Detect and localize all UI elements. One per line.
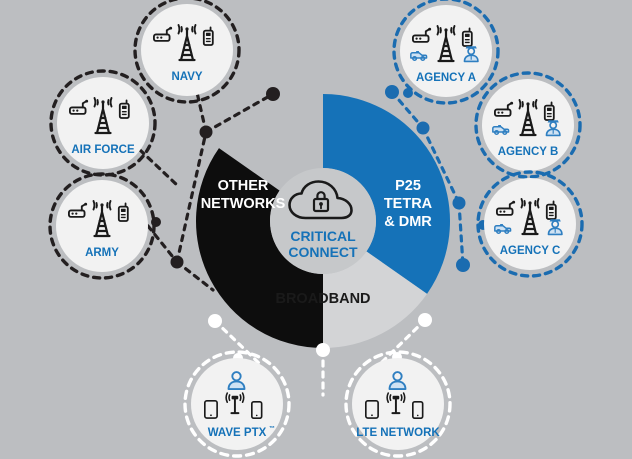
segment-label-p25-tetra-dmr: TETRA [384, 196, 433, 212]
connector-dot-dot-blue-2 [417, 122, 430, 135]
node-label-agency-b: AGENCY B [498, 146, 559, 158]
connector-dot-dot-blue-1 [385, 85, 399, 99]
node-label-lte-network: LTE NETWORK [356, 427, 440, 439]
node-label-navy: NAVY [171, 71, 202, 83]
segment-label-p25-tetra-dmr: P25 [395, 178, 421, 194]
node-label-wave-ptx: WAVE PTX [208, 427, 267, 439]
connector-dot-dot-dark-3 [171, 256, 184, 269]
diagram-canvas: CRITICALCONNECTOTHERNETWORKSP25TETRA& DM… [0, 0, 632, 459]
node-label-air-force: AIR FORCE [71, 144, 135, 156]
connector-dot-dot-blue-3 [453, 197, 466, 210]
node-label-agency-c: AGENCY C [500, 245, 561, 257]
segment-label-other-networks: NETWORKS [201, 196, 286, 212]
connector-dot-dot-white-2 [316, 343, 330, 357]
segment-label-p25-tetra-dmr: & DMR [384, 214, 432, 230]
connector-dot-dot-blue-4 [456, 258, 470, 272]
connector-dot-dot-white-1 [208, 314, 222, 328]
node-label-trademark-wave-ptx: ™ [269, 425, 275, 432]
hub-label-line1: CRITICAL [290, 228, 356, 244]
hub-label-line2: CONNECT [288, 244, 358, 260]
node-label-army: ARMY [85, 247, 119, 259]
connector-dot-dot-dark-1 [266, 87, 280, 101]
connector-dot-dot-dark-2 [200, 126, 213, 139]
segment-label-other-networks: OTHER [218, 178, 269, 194]
segment-label-broadband: BROADBAND [275, 291, 370, 307]
connector-dot-dot-white-3 [418, 313, 432, 327]
node-label-agency-a: AGENCY A [416, 72, 476, 84]
